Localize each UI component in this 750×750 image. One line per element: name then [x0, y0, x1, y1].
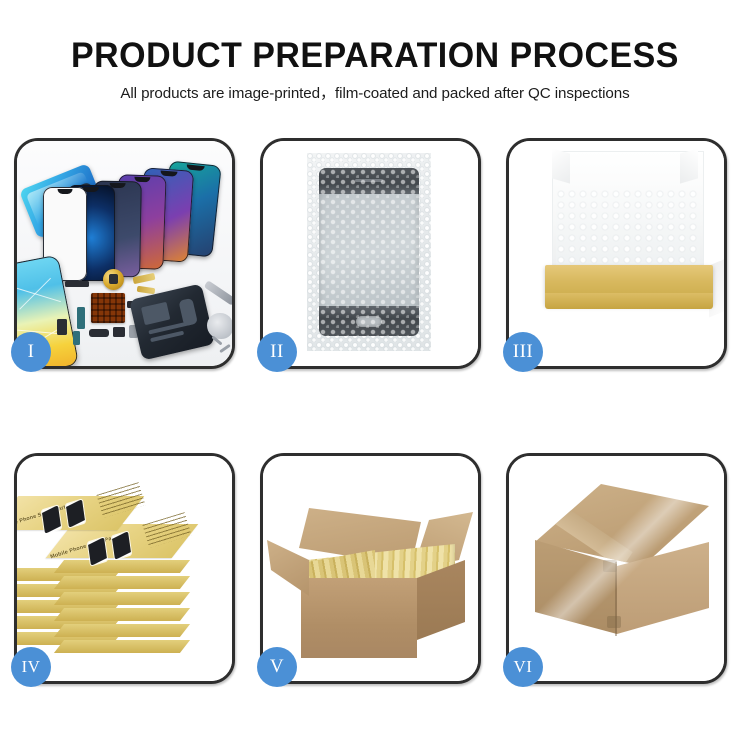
repair-hand-tool	[207, 313, 232, 339]
page-header: PRODUCT PREPARATION PROCESS All products…	[0, 0, 750, 103]
phone-notch-icon	[186, 164, 204, 171]
carton-handle-notch	[607, 616, 621, 628]
stacked-box-edge	[54, 640, 190, 653]
box-product-thumbnail	[112, 531, 131, 559]
sensor-part	[113, 327, 125, 337]
stacked-box-edge	[54, 576, 190, 589]
small-module-part	[73, 331, 80, 345]
box-lid-flap-right	[680, 148, 698, 183]
box-lid-flap-left	[552, 148, 570, 183]
process-step-panel-5: V	[260, 453, 481, 684]
step-badge-1: I	[11, 332, 51, 372]
process-step-panel-3: III	[506, 138, 727, 369]
step-badge-5: V	[257, 647, 297, 687]
box-product-thumbnail	[42, 505, 61, 533]
connector-part	[65, 281, 89, 287]
process-step-grid: I II	[14, 138, 736, 684]
product-preparation-infographic: PRODUCT PREPARATION PROCESS All products…	[0, 0, 750, 750]
box-front-edge	[545, 293, 713, 309]
box-product-thumbnail	[66, 499, 85, 527]
battery-connector-part	[57, 319, 67, 335]
step-5-image	[263, 456, 478, 681]
stacked-box-edge	[54, 560, 190, 573]
page-subtitle: All products are image-printed，film-coat…	[0, 85, 750, 103]
carton-front-panel	[301, 578, 417, 658]
chip-array-part	[91, 293, 125, 323]
step-4-image: Mobile Phone Spare Parts Mobile Phone Sp…	[17, 456, 232, 681]
step-badge-2: II	[257, 332, 297, 372]
step-3-image	[509, 141, 724, 366]
speaker-coil-part	[103, 269, 124, 290]
process-step-panel-1: I	[14, 138, 235, 369]
stacked-box-edge	[54, 608, 190, 621]
step-badge-6: VI	[503, 647, 543, 687]
process-step-panel-2: II	[260, 138, 481, 369]
step-1-image	[17, 141, 232, 366]
camera-module-part	[77, 307, 85, 329]
box-product-thumbnail	[88, 537, 107, 565]
bubble-wrap-sheet	[307, 153, 431, 351]
step-badge-4: IV	[11, 647, 51, 687]
foam-padding	[556, 189, 700, 273]
button-part	[89, 329, 109, 337]
bubble-overlay	[319, 168, 419, 336]
process-step-panel-4: Mobile Phone Spare Parts Mobile Phone Sp…	[14, 453, 235, 684]
wrapped-phone-screen	[319, 168, 419, 336]
phone-notch-icon	[83, 187, 99, 192]
step-6-image	[509, 456, 724, 681]
process-step-panel-6: VI	[506, 453, 727, 684]
carton-handle-notch	[603, 560, 617, 572]
step-2-image	[263, 141, 478, 366]
phone-notch-icon	[160, 171, 177, 177]
phone-notch-icon	[58, 189, 73, 194]
stacked-box-edge	[54, 624, 190, 637]
step-badge-3: III	[503, 332, 543, 372]
page-title: PRODUCT PREPARATION PROCESS	[11, 36, 739, 76]
stacked-box-edge	[54, 592, 190, 605]
